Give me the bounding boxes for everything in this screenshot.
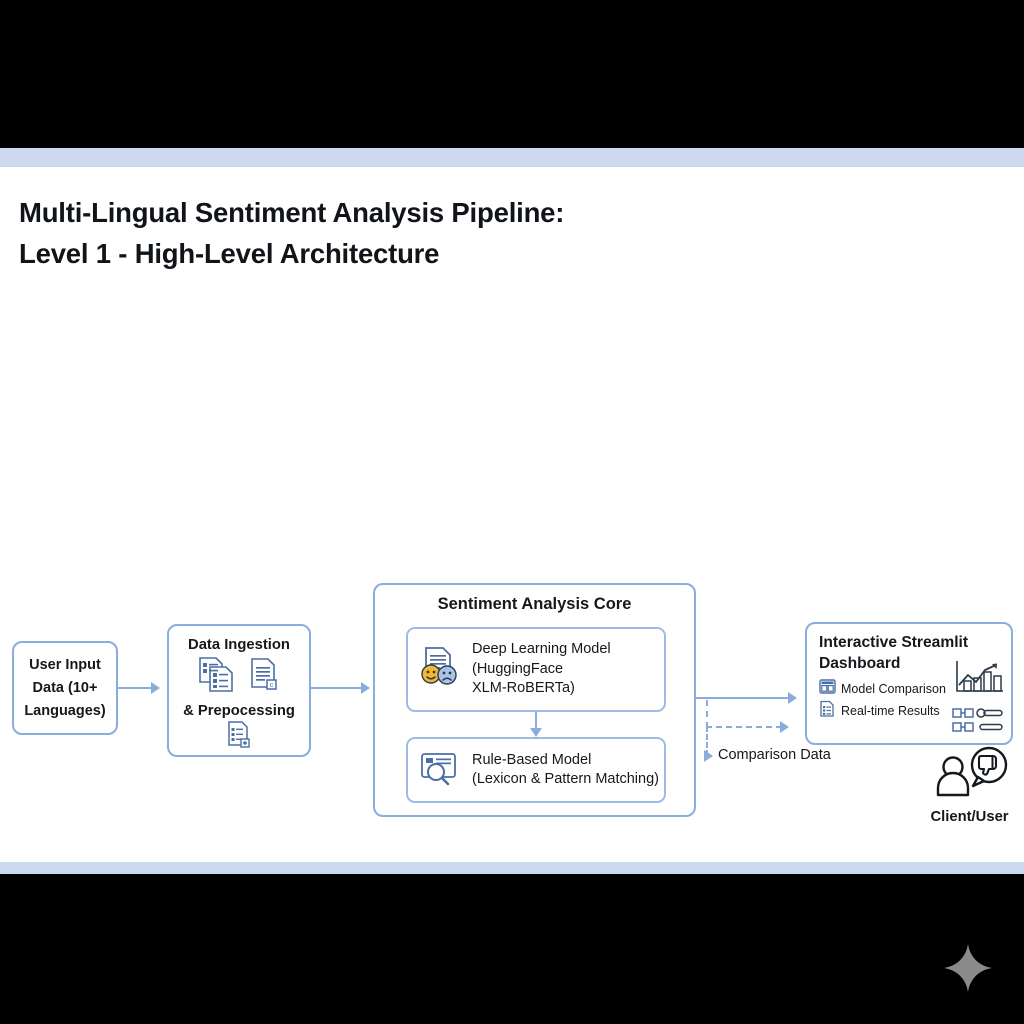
connector-comparison-vertical	[706, 700, 708, 728]
arrowhead-comparison-label	[704, 750, 713, 762]
node-deep-learning-model[interactable]: Deep Learning Model(HuggingFaceXLM-RoBER…	[406, 627, 666, 712]
deep-learning-model-line3: XLM-RoBERTa)	[472, 680, 575, 696]
connector-core-to-dashboard	[696, 697, 789, 699]
deep-learning-model-line2: (HuggingFace	[472, 661, 563, 677]
rule-based-model-label: Rule-Based Model(Lexicon & Pattern Match…	[472, 751, 659, 790]
connector-input-to-ingestion	[118, 687, 152, 689]
deep-learning-model-line1: Deep Learning Model	[472, 641, 611, 657]
dashboard-feature-item: Model Comparison	[819, 678, 946, 700]
dashboard-feature-label: Model Comparison	[841, 682, 946, 696]
letterbox-strip-top	[0, 148, 1024, 167]
node-user-input-label: User Input Data (10+ Languages)	[14, 643, 116, 723]
document-list-icon	[819, 700, 836, 723]
dashboard-analytics-graphics	[952, 658, 1010, 736]
comparison-data-label: Comparison Data	[718, 747, 831, 763]
letterbox-strip-bottom	[0, 862, 1024, 874]
rule-based-model-line1: Rule-Based Model	[472, 752, 591, 768]
dashboard-body: Model Comparison	[807, 678, 1011, 736]
ingestion-icon-group: c	[169, 656, 309, 701]
dashboard-feature-label: Real-time Results	[841, 704, 940, 718]
document-settings-icon	[225, 720, 253, 757]
page-title: Multi-Lingual Sentiment Analysis Pipelin…	[19, 192, 799, 274]
client-user-label: Client/User	[915, 809, 1024, 825]
arrowhead-comparison-to-dashboard	[780, 721, 789, 733]
preprocessing-icon-group	[169, 720, 309, 757]
gemini-sparkle-icon	[943, 943, 993, 993]
rule-based-model-line2: (Lexicon & Pattern Matching)	[472, 771, 659, 787]
node-data-ingestion[interactable]: Data Ingestion	[167, 624, 311, 757]
document-with-badge-icon: c	[247, 656, 283, 701]
arrowhead-core-to-dashboard	[788, 692, 797, 704]
dashboard-feature-item: Real-time Results	[819, 700, 946, 722]
svg-text:c: c	[269, 682, 273, 689]
dashboard-controls-icon	[952, 706, 1010, 736]
arrowhead-input-to-ingestion	[151, 682, 160, 694]
client-user-group: Client/User	[915, 745, 1024, 825]
dashboard-feature-list: Model Comparison	[819, 678, 946, 736]
node-interactive-streamlit-dashboard[interactable]: Interactive Streamlit Dashboard Mode	[805, 622, 1013, 745]
arrowhead-ingestion-to-core	[361, 682, 370, 694]
connector-ingestion-to-core	[311, 687, 362, 689]
node-rule-based-model[interactable]: Rule-Based Model(Lexicon & Pattern Match…	[406, 737, 666, 803]
node-sentiment-analysis-core[interactable]: Sentiment Analysis Core	[373, 583, 696, 817]
stacked-documents-icon	[196, 656, 240, 701]
deep-learning-model-label: Deep Learning Model(HuggingFaceXLM-RoBER…	[472, 640, 611, 699]
lexicon-search-icon	[417, 748, 463, 793]
dashboard-grid-icon	[819, 678, 836, 700]
chart-bars-trend-icon	[952, 687, 1008, 704]
connector-comparison-horizontal	[706, 726, 782, 728]
core-title: Sentiment Analysis Core	[375, 595, 694, 614]
node-data-ingestion-label-line1: Data Ingestion	[169, 637, 309, 653]
screenshot-frame: Multi-Lingual Sentiment Analysis Pipelin…	[0, 0, 1024, 1024]
node-data-ingestion-label-line2: & Prepocessing	[169, 703, 309, 719]
arrowhead-deep-to-rule	[530, 728, 542, 737]
person-with-feedback-bubble-icon	[926, 790, 1014, 807]
diagram-canvas: Multi-Lingual Sentiment Analysis Pipelin…	[0, 167, 1024, 862]
sentiment-document-faces-icon	[417, 644, 463, 695]
node-user-input-data[interactable]: User Input Data (10+ Languages)	[12, 641, 118, 735]
